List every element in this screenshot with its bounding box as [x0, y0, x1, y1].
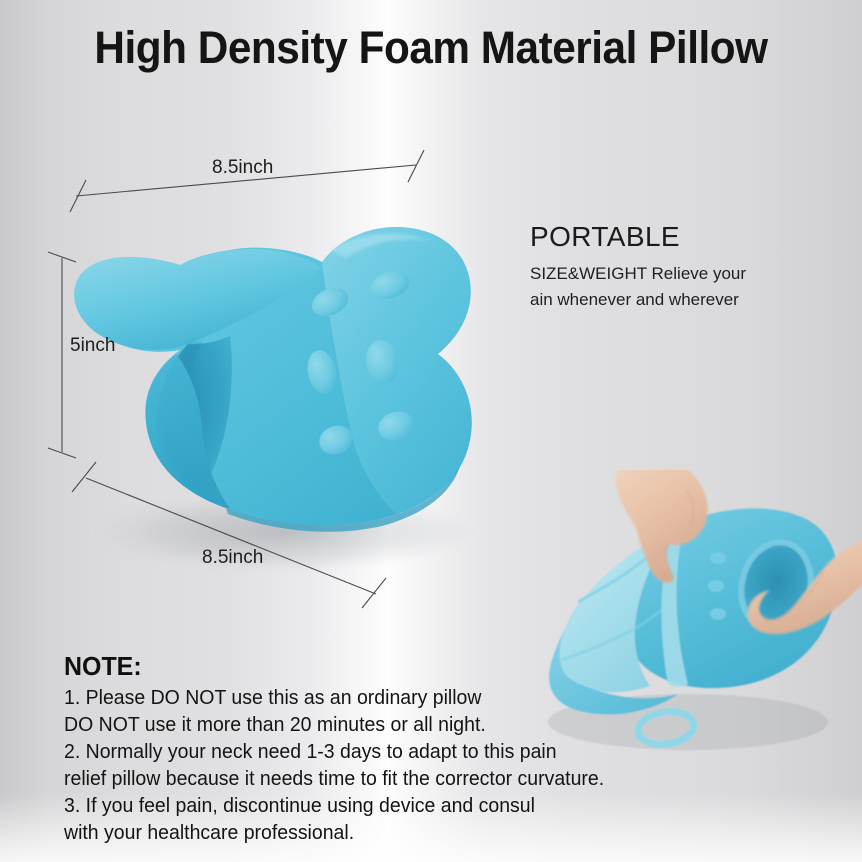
dimension-label-height: 5inch: [70, 335, 115, 357]
product-infographic: High Density Foam Material Pillow: [0, 0, 862, 862]
note-block: NOTE: 1. Please DO NOT use this as an or…: [64, 652, 624, 846]
dimension-label-depth: 8.5inch: [202, 547, 263, 569]
product-illustration: [30, 140, 550, 640]
note-lines: 1. Please DO NOT use this as an ordinary…: [64, 684, 624, 846]
portable-line: ain whenever and wherever: [530, 287, 830, 313]
portable-heading: PORTABLE: [530, 222, 830, 251]
massage-bump: [710, 552, 726, 564]
massage-bump: [708, 580, 724, 592]
note-line: relief pillow because it needs time to f…: [64, 765, 596, 792]
note-line: 2. Normally your neck need 1-3 days to a…: [64, 738, 596, 765]
massage-bump: [710, 608, 726, 620]
note-line: with your healthcare professional.: [64, 819, 596, 846]
note-heading: NOTE:: [64, 652, 602, 682]
page-title: High Density Foam Material Pillow: [26, 22, 836, 74]
note-line: 1. Please DO NOT use this as an ordinary…: [64, 684, 596, 711]
portable-feature-block: PORTABLE SIZE&WEIGHT Relieve your ain wh…: [530, 222, 830, 313]
dimension-label-width: 8.5inch: [212, 157, 273, 179]
note-line: 3. If you feel pain, discontinue using d…: [64, 792, 596, 819]
note-line: DO NOT use it more than 20 minutes or al…: [64, 711, 596, 738]
portable-line: SIZE&WEIGHT Relieve your: [530, 261, 830, 287]
portable-description: SIZE&WEIGHT Relieve your ain whenever an…: [530, 261, 830, 313]
